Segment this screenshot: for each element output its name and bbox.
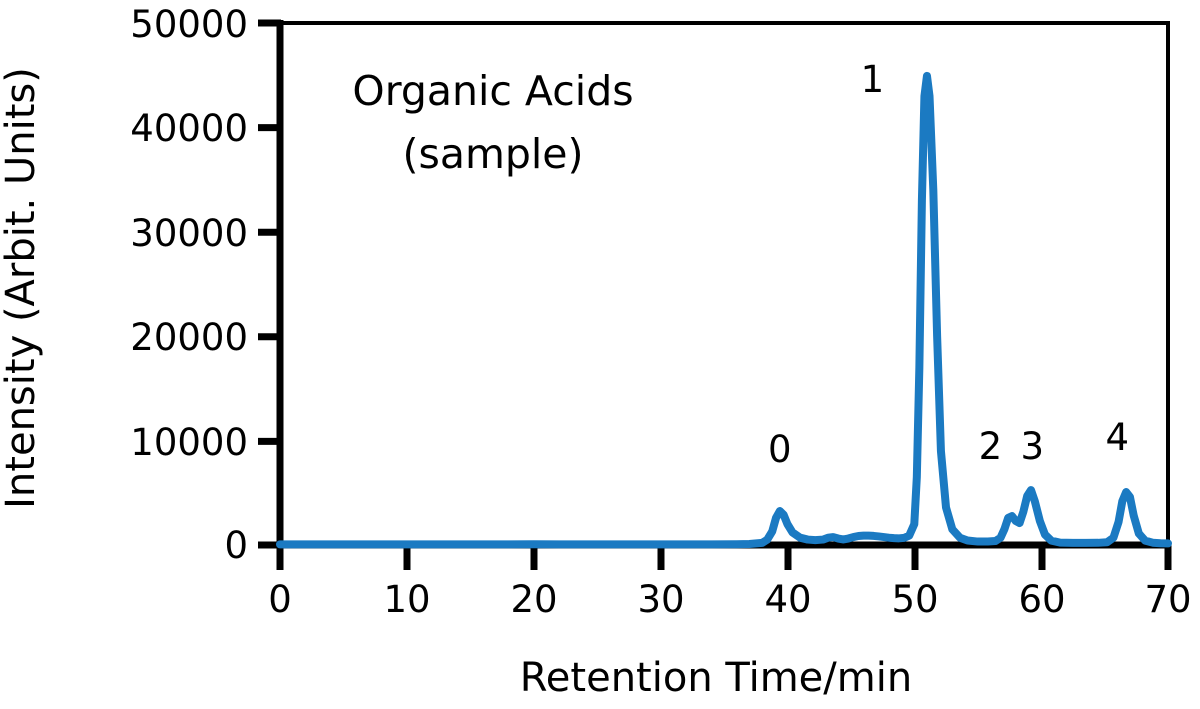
y-tick-labels: 50000 40000 30000 20000 10000 0 <box>130 3 248 567</box>
y-axis-title: Intensity (Arbit. Units) <box>0 67 44 509</box>
plot-annotation: Organic Acids (sample) <box>352 67 633 178</box>
chart-container: 50000 40000 30000 20000 10000 0 0 10 20 … <box>0 0 1200 709</box>
x-tick-labels: 0 10 20 30 40 50 60 70 <box>268 578 1191 621</box>
annotation-line-2: (sample) <box>402 130 583 178</box>
peak-label: 3 <box>1020 425 1044 468</box>
peak-label: 2 <box>979 425 1003 468</box>
y-tick-label: 50000 <box>130 3 248 46</box>
y-tick-label: 30000 <box>130 212 248 255</box>
x-tick-label: 20 <box>510 578 557 621</box>
peak-label: 1 <box>861 58 885 101</box>
y-tick-label: 10000 <box>130 421 248 464</box>
chromatogram-figure: 50000 40000 30000 20000 10000 0 0 10 20 … <box>0 0 1200 709</box>
x-axis-ticks <box>280 545 1168 570</box>
y-tick-label: 0 <box>224 524 248 567</box>
x-axis-title: Retention Time/min <box>520 655 912 701</box>
y-tick-label: 20000 <box>130 316 248 359</box>
peak-label: 0 <box>768 428 792 471</box>
x-tick-label: 10 <box>383 578 430 621</box>
x-tick-label: 0 <box>268 578 292 621</box>
peak-label: 4 <box>1105 416 1129 459</box>
x-tick-label: 40 <box>764 578 811 621</box>
x-tick-label: 70 <box>1144 578 1191 621</box>
x-tick-label: 50 <box>891 578 938 621</box>
x-tick-label: 60 <box>1018 578 1065 621</box>
annotation-line-1: Organic Acids <box>352 67 633 115</box>
x-tick-label: 30 <box>637 578 684 621</box>
y-tick-label: 40000 <box>130 107 248 150</box>
peak-labels: 01234 <box>768 58 1129 471</box>
